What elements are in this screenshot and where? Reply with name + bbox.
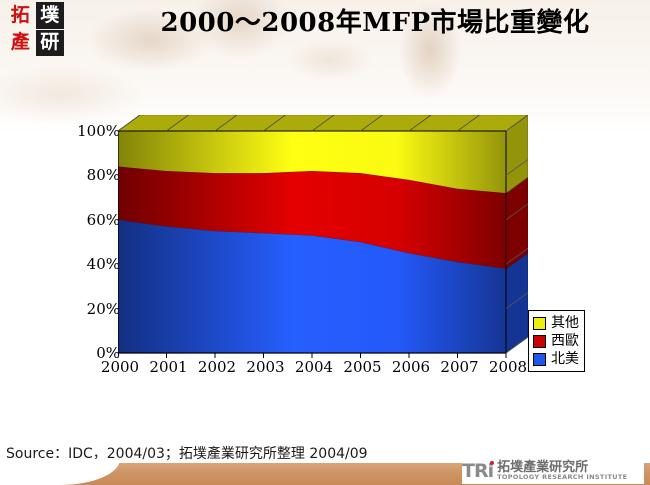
x-tick-label: 2001 [149,358,187,376]
y-tick-label: 40% [68,255,120,273]
legend-swatch-icon [533,317,546,330]
logo-char-3: 產 [6,30,35,57]
x-axis: 200020012002200320042005200620072008 [120,358,520,382]
legend-swatch-icon [533,335,546,348]
logo-char-1: 拓 [6,2,35,29]
legend-label: 北美 [551,352,579,366]
y-axis: 0%20%40%60%80%100% [68,95,120,385]
tri-logo: 拓 墣 產 研 [6,2,64,56]
chart-area: 0%20%40%60%80%100% 200020012002200320042… [0,95,650,385]
legend-label: 其他 [551,316,579,330]
x-tick-label: 2002 [198,358,236,376]
footer-logo-mark: TRi [462,460,493,482]
x-tick-label: 2007 [440,358,478,376]
x-tick-label: 2003 [246,358,284,376]
x-tick-label: 2006 [392,358,430,376]
logo-char-4: 研 [36,30,65,57]
y-tick-label: 100% [68,122,120,140]
y-tick-label: 80% [68,166,120,184]
legend-swatch-icon [533,353,546,366]
x-tick-label: 2005 [343,358,381,376]
legend-item[interactable]: 西歐 [533,332,579,350]
x-tick-label: 2000 [101,358,139,376]
stacked-area-plot [118,115,528,365]
legend-item[interactable]: 北美 [533,350,579,368]
logo-char-2: 墣 [36,2,65,29]
x-tick-label: 2004 [295,358,333,376]
footer-logo-name-zh: 拓墣產業研究所 [497,461,627,475]
chart-legend: 其他西歐北美 [528,310,585,372]
footer-logo-dot [490,461,494,465]
legend-label: 西歐 [551,334,579,348]
x-tick-label: 2008 [489,358,527,376]
footer-logo: TRi 拓墣產業研究所 TOPOLOGY RESEARCH INSTITUTE [462,458,644,484]
footer-logo-name-en: TOPOLOGY RESEARCH INSTITUTE [497,474,627,481]
y-tick-label: 60% [68,211,120,229]
y-tick-label: 20% [68,300,120,318]
legend-item[interactable]: 其他 [533,314,579,332]
page-title: 2000～2008年MFP市場比重變化 [140,2,610,39]
